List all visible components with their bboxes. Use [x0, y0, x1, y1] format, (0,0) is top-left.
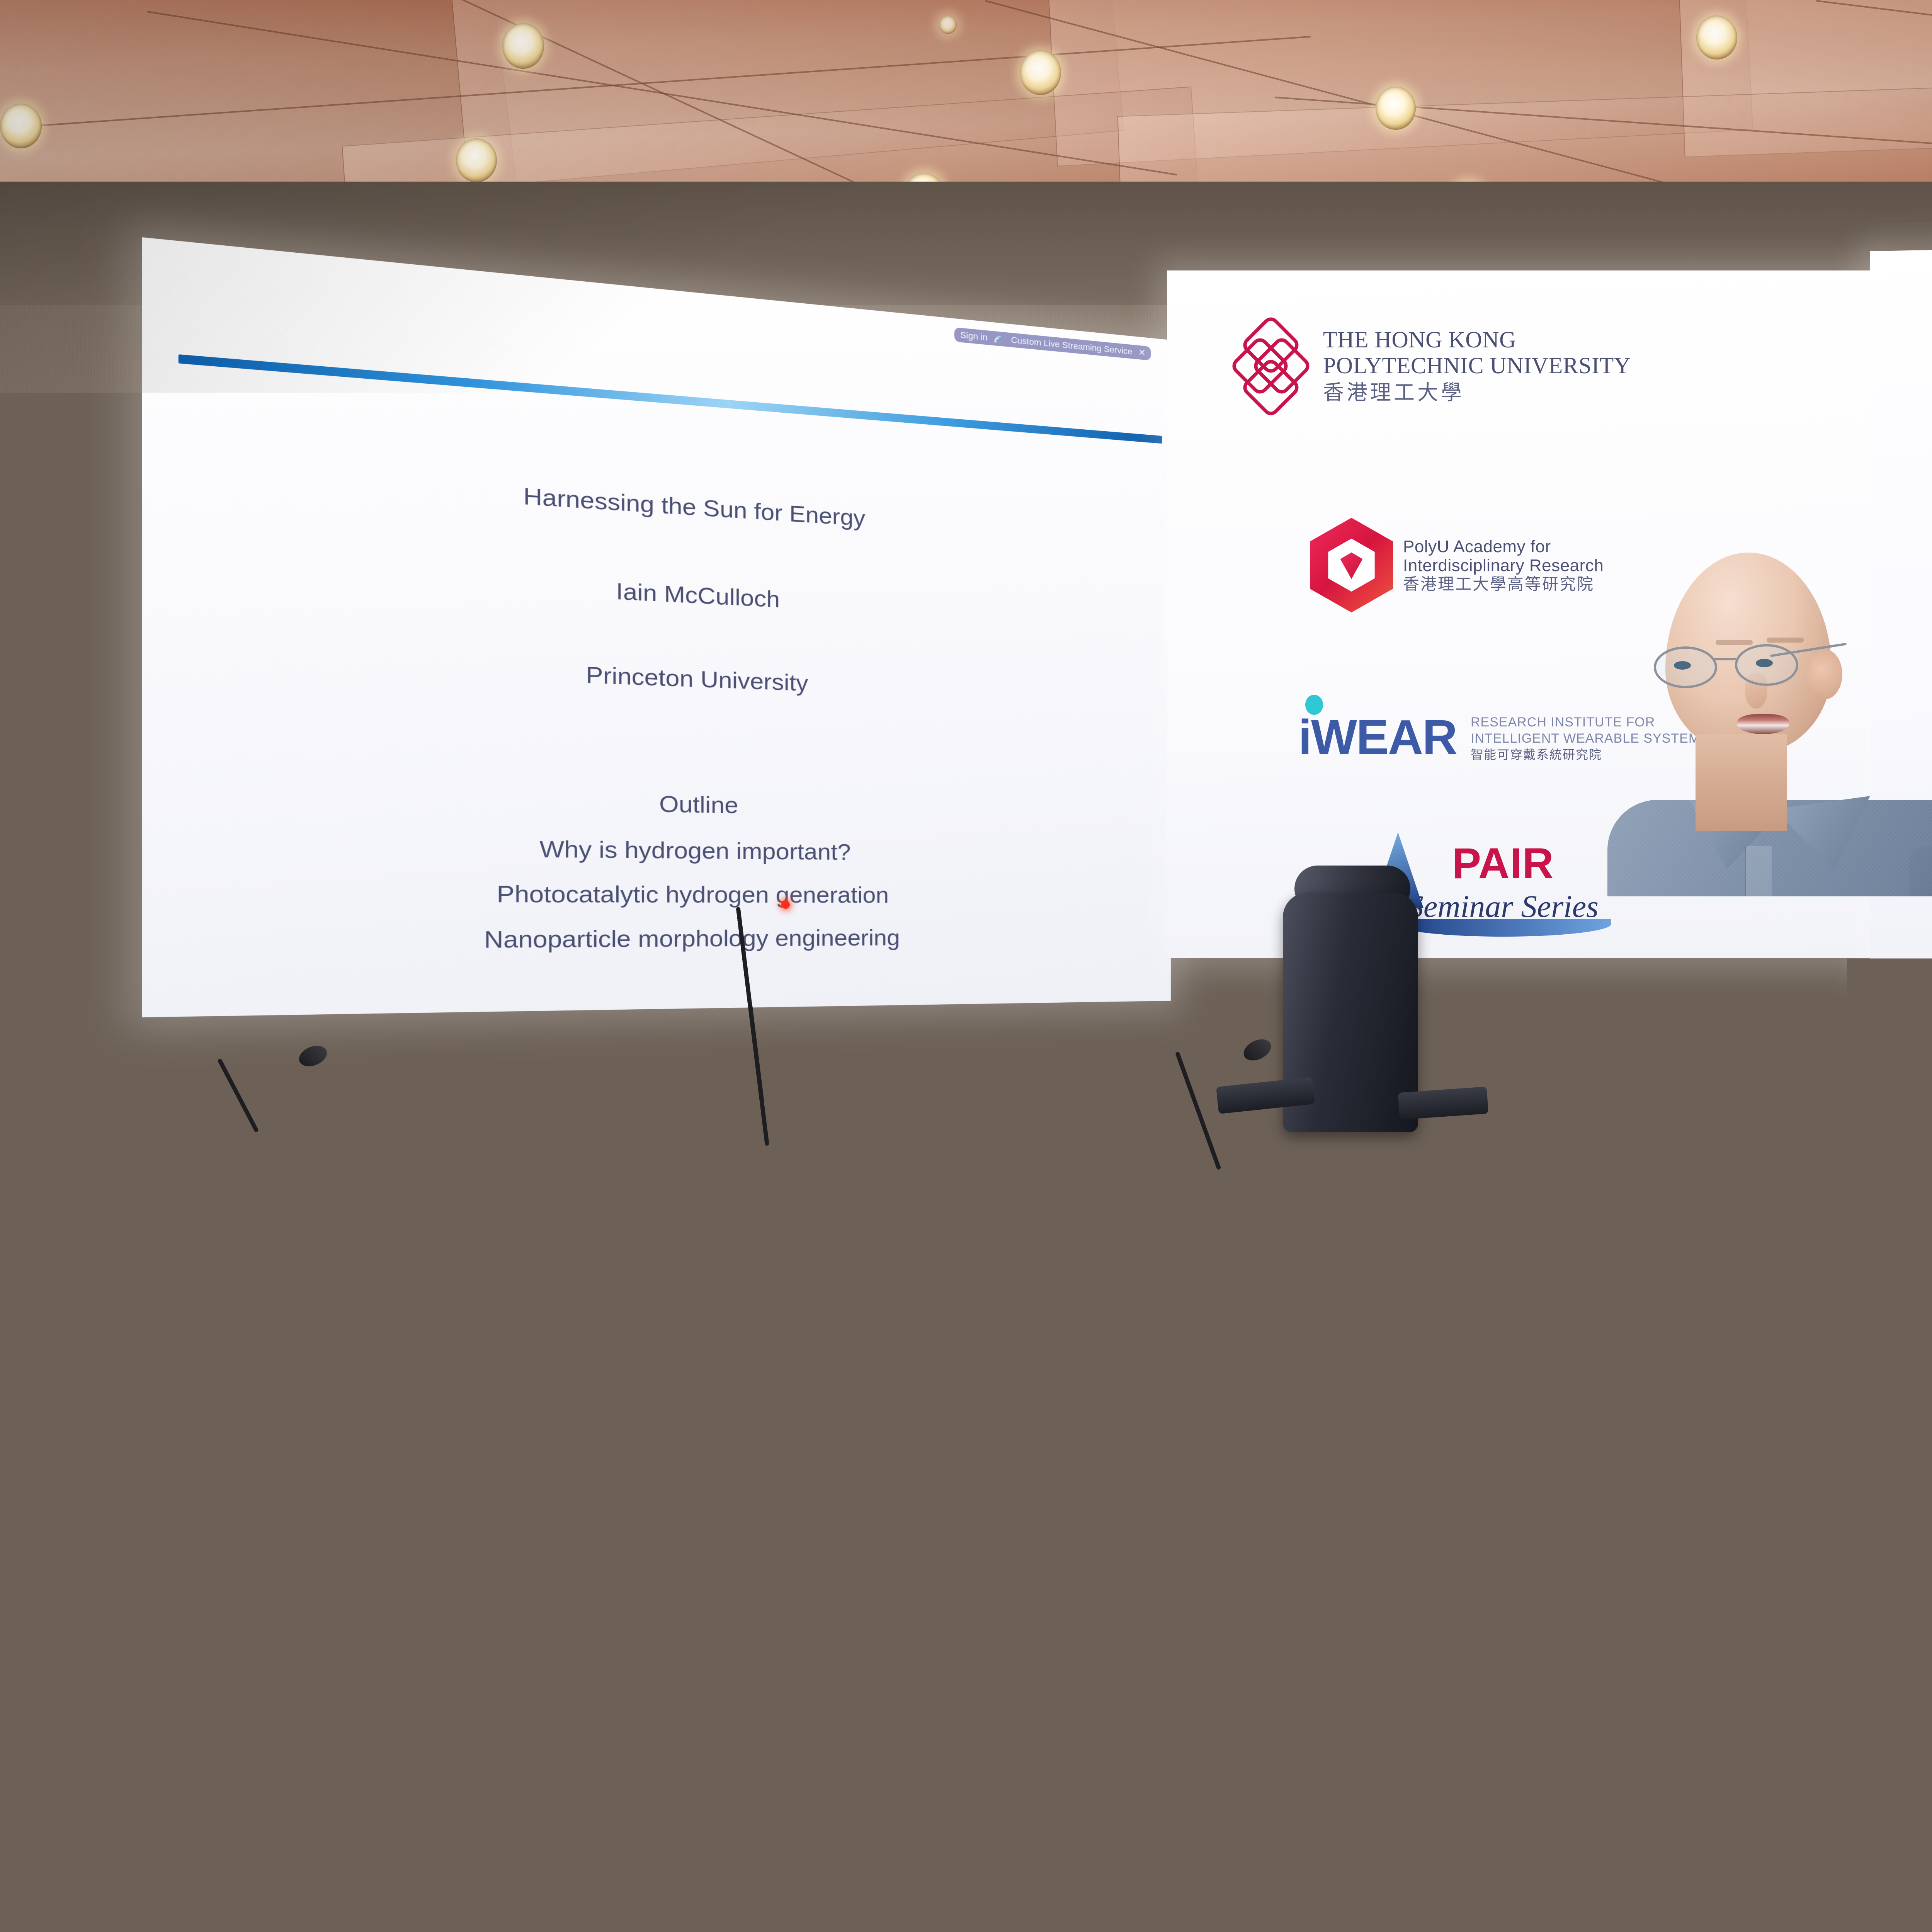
slide-outline-item: Why is hydrogen important?: [142, 830, 1171, 867]
polyu-knot-mark: [25, 1166, 76, 1231]
pair-seminar-series-logo: PAIR Seminar Series: [1395, 1195, 1557, 1264]
polyu-logo: THE HONG KONG POLYTECHNIC UNIVERSITY 香港理…: [25, 1166, 303, 1237]
stream-label: Custom Live Streaming Service: [1011, 335, 1132, 357]
cast-icon: [994, 334, 1005, 344]
pair-academy-hex-mark: [460, 1183, 509, 1241]
slide-speaker: Iain McCulloch: [1870, 378, 1932, 430]
mouth: [1737, 714, 1789, 734]
trousers: [1611, 1422, 1932, 1932]
acrylic-nameplate: [457, 1102, 626, 1151]
event-banner: THE HONG KONG POLYTECHNIC UNIVERSITY 香港理…: [0, 1153, 1747, 1742]
ceiling-downlight: [1020, 50, 1061, 95]
ceiling-downlight: [1696, 15, 1737, 60]
iwear-logo: iWEAR RESEARCH INSTITUTE FOR INTELLIGENT…: [866, 1201, 1140, 1245]
slide-outline-item: Nanoparticle morphology engineering: [142, 923, 1171, 956]
slide-accent-bar: [178, 354, 1162, 444]
iwear-dot-icon: [1305, 695, 1323, 715]
acrylic-nameplate: [964, 1119, 1108, 1163]
pair-academy-logo: PolyU Academy for Interdisciplinary Rese…: [1310, 518, 1604, 612]
slide-affiliation: Princeton University: [1870, 467, 1932, 519]
iwear-wordmark: iWEAR: [1298, 709, 1457, 765]
banner-artwork: H H: [0, 1267, 1747, 1742]
ceiling-downlight: [1376, 87, 1416, 130]
pair-academy-line2: Interdisciplinary Research: [1403, 556, 1604, 575]
glasses-lens-left: [1654, 646, 1717, 688]
pair-academy-hex-mark: [1310, 518, 1393, 612]
ceiling-downlight: [0, 104, 42, 148]
chair-armrest: [1398, 1087, 1488, 1120]
iwear-dot-icon: [870, 1190, 882, 1204]
panel-chair: [1233, 866, 1480, 1159]
glasses-lens-right: [1735, 644, 1798, 686]
eye: [1674, 661, 1691, 670]
eye: [1756, 659, 1773, 667]
pair-academy-chinese: 香港理工大學高等研究院: [1403, 575, 1604, 593]
polyu-line1: THE HONG KONG: [1323, 327, 1631, 353]
ceiling-downlight: [456, 138, 497, 182]
polyu-logo: THE HONG KONG POLYTECHNIC UNIVERSITY 香港理…: [1233, 317, 1631, 414]
desk-mic-active-indicator: [781, 900, 790, 909]
eyebrow: [1716, 640, 1753, 645]
pair-acronym: PAIR: [1438, 1196, 1514, 1236]
slide-title: Harnessing the Sun for Energy: [1870, 287, 1932, 339]
glasses: [1654, 646, 1839, 689]
eyebrow: [1767, 638, 1804, 643]
panel-desk: THE HONG KONG POLYTECHNIC UNIVERSITY 香港理…: [0, 1113, 1747, 1740]
pair-triangle-icon: [1387, 1199, 1424, 1257]
close-icon[interactable]: ✕: [1138, 347, 1145, 358]
slide-speaker: Iain McCulloch: [142, 552, 1171, 632]
watch-face: [1700, 1259, 1750, 1308]
neck: [1696, 734, 1787, 831]
speaker-person: [1592, 553, 1932, 1932]
pair-academy-hex-mark: [1615, 896, 1659, 945]
pair-academy-line1: PolyU Academy for: [1403, 537, 1604, 556]
iwear-wordmark: iWEAR: [866, 1201, 970, 1241]
bubble-decoration: [1533, 1498, 1565, 1530]
ceiling-downlight: [502, 23, 544, 69]
projection-screen-left: Sign in Custom Live Streaming Service ✕ …: [142, 237, 1171, 1017]
sign-in-label[interactable]: Sign in: [960, 330, 988, 343]
ceiling-downlight: [939, 15, 957, 34]
trouser-leg-seam: [1774, 1573, 1778, 1932]
polyu-knot-mark: [1233, 317, 1313, 414]
banner-title: Harnessing the Sun for Chemistry: [0, 1321, 1468, 1421]
slide-outline-heading: Outline: [142, 780, 1171, 825]
pair-academy-logo: PolyU Academy for Interdisciplinary Rese…: [460, 1183, 657, 1245]
slide-title: Harnessing the Sun for Energy: [142, 456, 1171, 551]
lecture-hall-photo: Sign in Custom Live Streaming Service ✕ …: [0, 0, 1932, 1932]
shirt-button: [1752, 958, 1765, 971]
slide-affiliation: Princeton University: [142, 643, 1171, 709]
glasses-bridge: [1713, 658, 1736, 660]
polyu-chinese: 香港理工大學: [1323, 381, 1631, 404]
slide-outline-item: Photocatalytic hydrogen generation: [142, 878, 1171, 908]
polyu-line2: POLYTECHNIC UNIVERSITY: [1323, 353, 1631, 379]
